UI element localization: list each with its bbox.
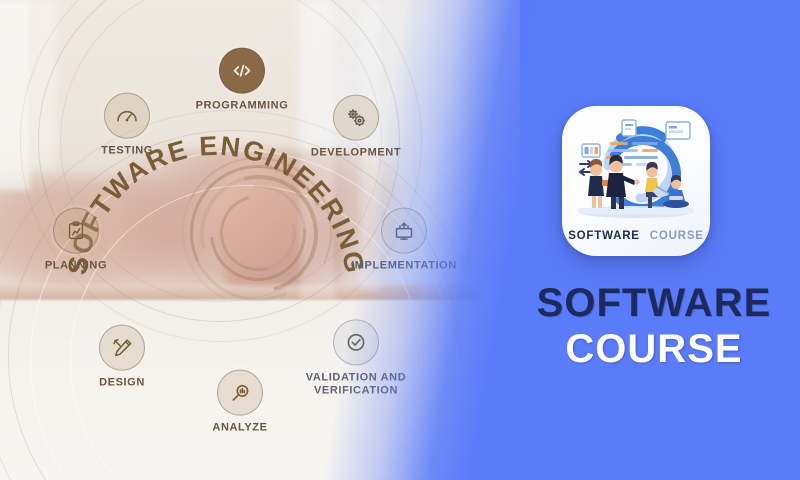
poster-root: SOFTWARE ENGINEERING TESTING xyxy=(0,0,800,480)
magnifier-chart-icon xyxy=(217,370,263,416)
software-course-illustration xyxy=(562,112,710,220)
node-label: TESTING xyxy=(47,145,207,158)
photo-background-panel: SOFTWARE ENGINEERING TESTING xyxy=(0,0,520,480)
badge-wordmark: SOFTWARE COURSE xyxy=(562,230,710,242)
check-circle-icon xyxy=(333,319,379,365)
badge-word-software: SOFTWARE xyxy=(568,230,640,242)
code-brackets-icon xyxy=(219,48,265,94)
headline: SOFTWARE COURSE xyxy=(520,283,788,370)
node-label: DEVELOPMENT xyxy=(276,147,436,160)
gauge-icon xyxy=(104,93,150,139)
headline-line-1: SOFTWARE xyxy=(520,283,788,324)
node-label: PLANNING xyxy=(0,260,156,273)
clipboard-plan-icon xyxy=(53,208,99,254)
node-planning[interactable]: PLANNING xyxy=(0,208,156,273)
monitor-deploy-icon xyxy=(381,208,427,254)
node-validation-verification[interactable]: VALIDATION AND VERIFICATION xyxy=(276,319,436,396)
node-implementation[interactable]: IMPLEMENTATION xyxy=(324,208,484,273)
pencil-ruler-icon xyxy=(99,325,145,371)
software-course-logo-badge[interactable]: SOFTWARE COURSE xyxy=(562,106,710,256)
headline-line-2: COURSE xyxy=(520,328,788,370)
node-label: VALIDATION AND xyxy=(276,371,436,384)
node-development[interactable]: DEVELOPMENT xyxy=(276,95,436,160)
node-label-second-line: VERIFICATION xyxy=(276,384,436,397)
gears-icon xyxy=(333,95,379,141)
node-label: ANALYZE xyxy=(160,422,320,435)
badge-word-course: COURSE xyxy=(650,230,704,242)
node-label: IMPLEMENTATION xyxy=(324,260,484,273)
